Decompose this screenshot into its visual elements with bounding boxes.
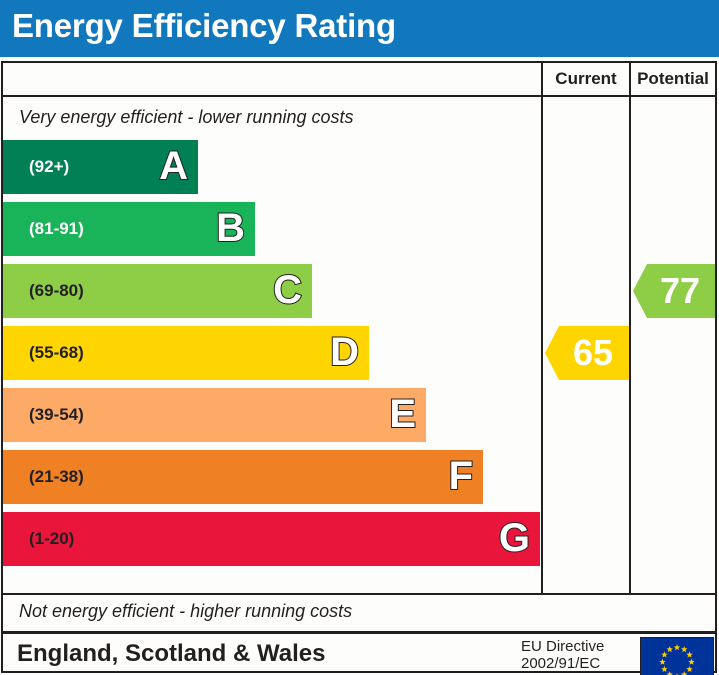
header-blank-cell — [3, 63, 541, 95]
band-letter-e: E — [389, 394, 416, 434]
column-header-potential: Potential — [629, 63, 715, 95]
potential-rating-arrow: 77 — [633, 264, 715, 318]
column-header-current-label: Current — [555, 69, 616, 89]
rating-band-e: (39-54)E — [3, 388, 426, 442]
rating-grid: Current Potential Very energy efficient … — [1, 61, 717, 673]
band-letter-a: A — [159, 146, 188, 186]
rating-band-b: (81-91)B — [3, 202, 255, 256]
current-rating-value: 65 — [561, 335, 613, 371]
grid-header-row: Current Potential — [3, 63, 715, 97]
band-range-a: (92+) — [29, 157, 69, 177]
column-divider-1 — [541, 97, 543, 593]
page-title: Energy Efficiency Rating — [12, 7, 396, 45]
eu-flag-stars — [641, 638, 713, 675]
column-header-potential-label: Potential — [637, 69, 709, 89]
current-rating-arrow: 65 — [545, 326, 629, 380]
band-letter-c: C — [273, 270, 302, 310]
rating-band-f: (21-38)F — [3, 450, 483, 504]
footer-divider — [3, 593, 715, 595]
eu-flag-icon — [640, 637, 714, 675]
bottom-bar: England, Scotland & Wales EU Directive 2… — [3, 634, 715, 673]
eu-directive-line1: EU Directive — [521, 638, 604, 655]
band-letter-g: G — [499, 518, 530, 558]
rating-band-g: (1-20)G — [3, 512, 540, 566]
title-bar: Energy Efficiency Rating — [0, 0, 719, 57]
rating-band-d: (55-68)D — [3, 326, 369, 380]
caption-bottom: Not energy efficient - higher running co… — [19, 601, 352, 622]
caption-top: Very energy efficient - lower running co… — [19, 107, 354, 128]
band-range-d: (55-68) — [29, 343, 84, 363]
rating-bars: (92+)A(81-91)B(69-80)C(55-68)D(39-54)E(2… — [3, 135, 541, 591]
rating-band-a: (92+)A — [3, 140, 198, 194]
band-range-g: (1-20) — [29, 529, 74, 549]
band-letter-b: B — [216, 208, 245, 248]
column-header-current: Current — [541, 63, 629, 95]
band-letter-f: F — [449, 456, 473, 496]
epc-chart: Energy Efficiency Rating Current Potenti… — [0, 0, 719, 675]
eu-directive-line2: 2002/91/EC — [521, 655, 604, 672]
rating-band-c: (69-80)C — [3, 264, 312, 318]
region-label: England, Scotland & Wales — [17, 640, 325, 668]
band-range-b: (81-91) — [29, 219, 84, 239]
potential-rating-value: 77 — [648, 273, 700, 309]
band-range-e: (39-54) — [29, 405, 84, 425]
column-divider-2 — [629, 97, 631, 593]
band-letter-d: D — [330, 332, 359, 372]
band-range-f: (21-38) — [29, 467, 84, 487]
band-range-c: (69-80) — [29, 281, 84, 301]
eu-directive: EU Directive 2002/91/EC — [521, 638, 604, 672]
